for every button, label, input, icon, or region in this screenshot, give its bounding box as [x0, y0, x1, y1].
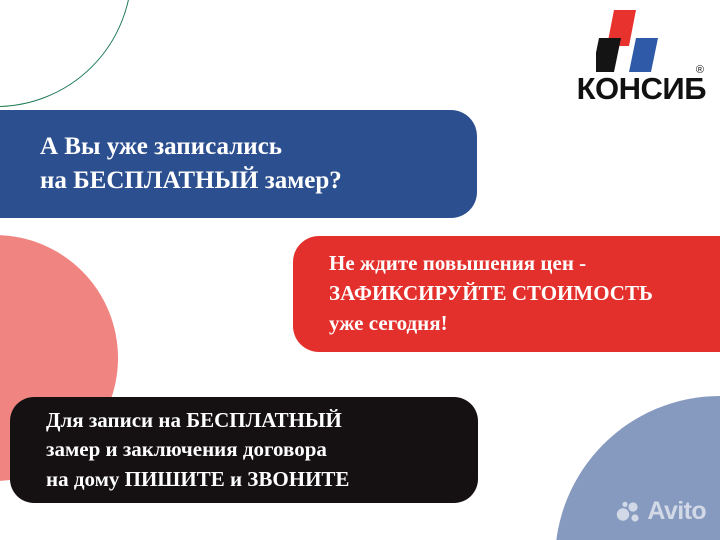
banner-black-line-1: Для записи на БЕСПЛАТНЫЙ	[46, 406, 478, 435]
banner-red-line-3: уже сегодня!	[329, 309, 720, 339]
offer-banner-red: Не ждите повышения цен - ЗАФИКСИРУЙТЕ СТ…	[293, 236, 720, 352]
konsib-logo: КОНСИБ ®	[522, 8, 706, 108]
avito-watermark-label: Avito	[647, 499, 706, 524]
avito-dots-icon	[616, 501, 642, 523]
green-outline-circle-decoration	[0, 0, 132, 107]
banner-black-line-3: на дому ПИШИТЕ и ЗВОНИТЕ	[46, 465, 478, 494]
banner-blue-line-1: А Вы уже записались	[40, 130, 477, 165]
banner-black-line-2: замер и заключения договора	[46, 435, 478, 464]
banner-red-line-2: ЗАФИКСИРУЙТЕ СТОИМОСТЬ	[329, 279, 720, 309]
registered-trademark-icon: ®	[696, 64, 704, 76]
logo-shape-blue-icon	[629, 38, 658, 72]
logo-shape-black-icon	[596, 38, 621, 72]
headline-banner-blue: А Вы уже записались на БЕСПЛАТНЫЙ замер?	[0, 110, 477, 218]
avito-watermark: Avito	[616, 499, 706, 524]
logo-parallelogram-mark	[596, 8, 666, 74]
advertisement-image: КОНСИБ ® А Вы уже записались на БЕСПЛАТН…	[0, 0, 720, 540]
logo-wordmark: КОНСИБ	[522, 73, 706, 104]
banner-blue-line-2: на БЕСПЛАТНЫЙ замер?	[40, 164, 477, 199]
call-to-action-banner-black: Для записи на БЕСПЛАТНЫЙ замер и заключе…	[10, 397, 478, 503]
banner-red-line-1: Не ждите повышения цен -	[329, 249, 720, 279]
